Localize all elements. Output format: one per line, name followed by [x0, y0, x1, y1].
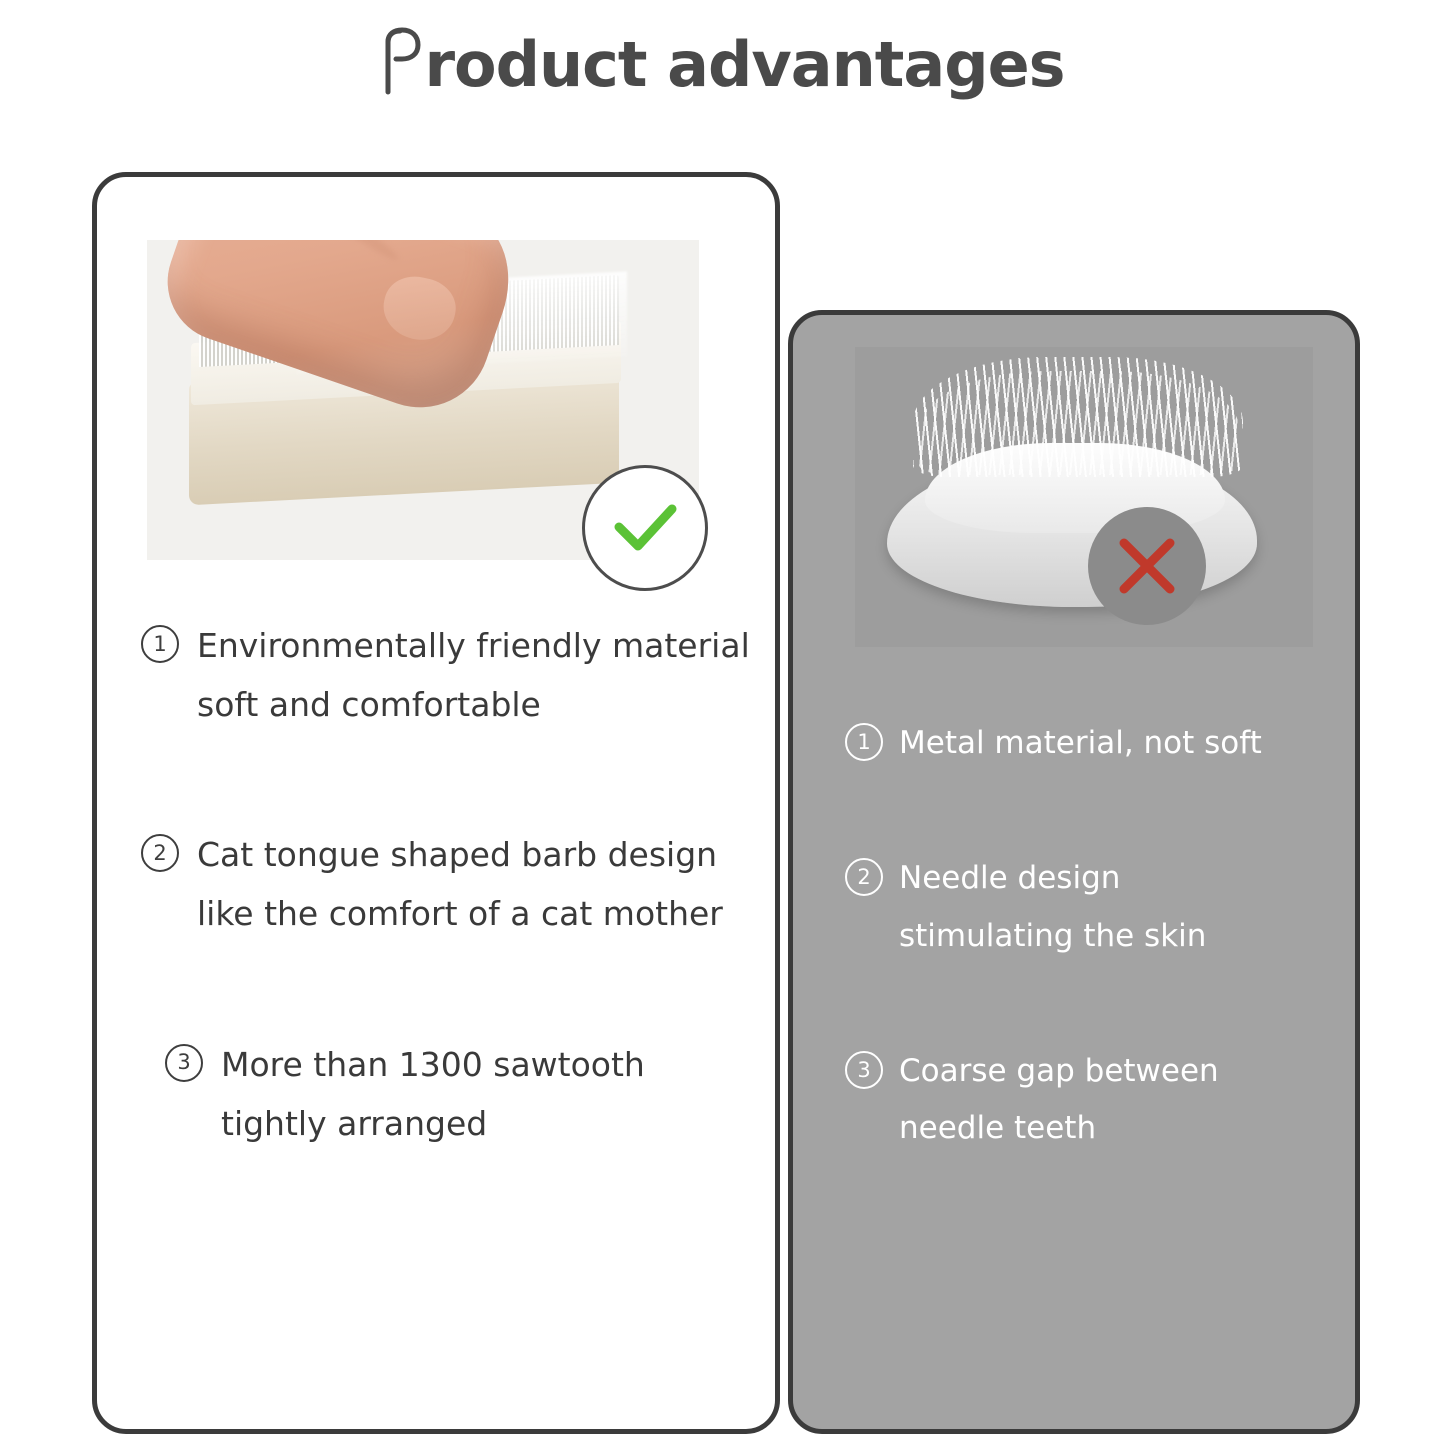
list-item-number: 1: [845, 723, 883, 761]
list-item-line2: tightly arranged: [221, 1104, 487, 1143]
metal-needle-brush-photo: [855, 347, 1313, 647]
list-item-number: 1: [141, 625, 179, 663]
list-item-number: 2: [845, 858, 883, 896]
silicone-brush-panel: 1 Environmentally friendly material soft…: [92, 172, 780, 1434]
list-item-number: 2: [141, 834, 179, 872]
list-item-line2: needle teeth: [899, 1110, 1096, 1146]
list-item: 1 Environmentally friendly material soft…: [141, 617, 761, 734]
fingernail-shape: [377, 270, 461, 347]
list-item: 3 Coarse gap between needle teeth: [845, 1043, 1315, 1158]
list-item-text: Cat tongue shaped barb design like the c…: [197, 826, 723, 943]
check-badge: [582, 465, 708, 591]
list-item-line2: stimulating the skin: [899, 918, 1206, 954]
page-title-text: roduct advantages: [424, 28, 1064, 101]
list-item: 2 Cat tongue shaped barb design like the…: [141, 826, 761, 943]
cross-badge: [1088, 507, 1206, 625]
finger-knuckle-shape-secondary: [296, 240, 402, 265]
page-title: roduct advantages: [0, 28, 1445, 101]
cross-icon: [1114, 533, 1180, 599]
list-item-line1: Cat tongue shaped barb design: [197, 835, 717, 874]
list-item-line1: Metal material, not soft: [899, 725, 1262, 761]
list-item-line2: like the comfort of a cat mother: [197, 894, 723, 933]
list-item-text: Coarse gap between needle teeth: [899, 1043, 1219, 1158]
list-item: 2 Needle design stimulating the skin: [845, 850, 1315, 965]
list-item-line1: Coarse gap between: [899, 1053, 1219, 1089]
list-item-number: 3: [845, 1051, 883, 1089]
list-item: 1 Metal material, not soft: [845, 715, 1315, 772]
list-item-text: More than 1300 sawtooth tightly arranged: [221, 1036, 645, 1153]
list-item-number: 3: [165, 1044, 203, 1082]
list-item-line1: Needle design: [899, 860, 1120, 896]
right-feature-list: 1 Metal material, not soft 2 Needle desi…: [845, 715, 1315, 1158]
metal-needles-shape-secondary: [919, 371, 1239, 475]
metal-needle-brush-panel: 1 Metal material, not soft 2 Needle desi…: [788, 310, 1360, 1434]
title-first-letter-icon: [380, 30, 424, 92]
list-item-line1: More than 1300 sawtooth: [221, 1045, 645, 1084]
list-item-text: Metal material, not soft: [899, 715, 1262, 772]
left-feature-list: 1 Environmentally friendly material soft…: [141, 617, 761, 1153]
list-item: 3 More than 1300 sawtooth tightly arrang…: [165, 1036, 761, 1153]
list-item-text: Environmentally friendly material soft a…: [197, 617, 750, 734]
list-item-line2: soft and comfortable: [197, 685, 541, 724]
check-icon: [606, 489, 684, 567]
list-item-text: Needle design stimulating the skin: [899, 850, 1206, 965]
list-item-line1: Environmentally friendly material: [197, 626, 750, 665]
